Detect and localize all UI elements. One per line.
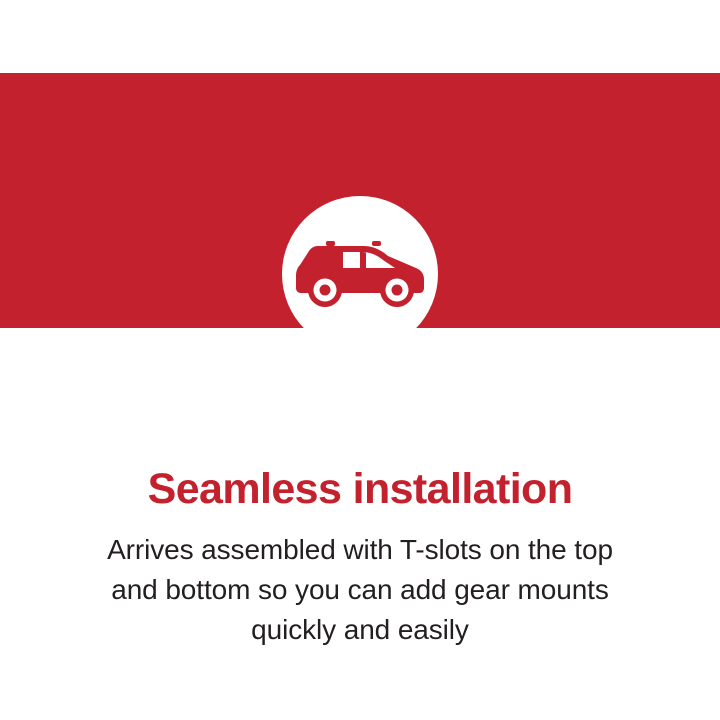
red-feature-band bbox=[0, 73, 720, 328]
page-title: Seamless installation bbox=[0, 465, 720, 513]
icon-badge bbox=[282, 196, 438, 352]
text-content: Seamless installation Arrives assembled … bbox=[0, 465, 720, 649]
suv-car-icon bbox=[296, 241, 424, 307]
feature-panel: Seamless installation Arrives assembled … bbox=[0, 0, 720, 720]
description-text: Arrives assembled with T-slots on the to… bbox=[0, 530, 720, 649]
